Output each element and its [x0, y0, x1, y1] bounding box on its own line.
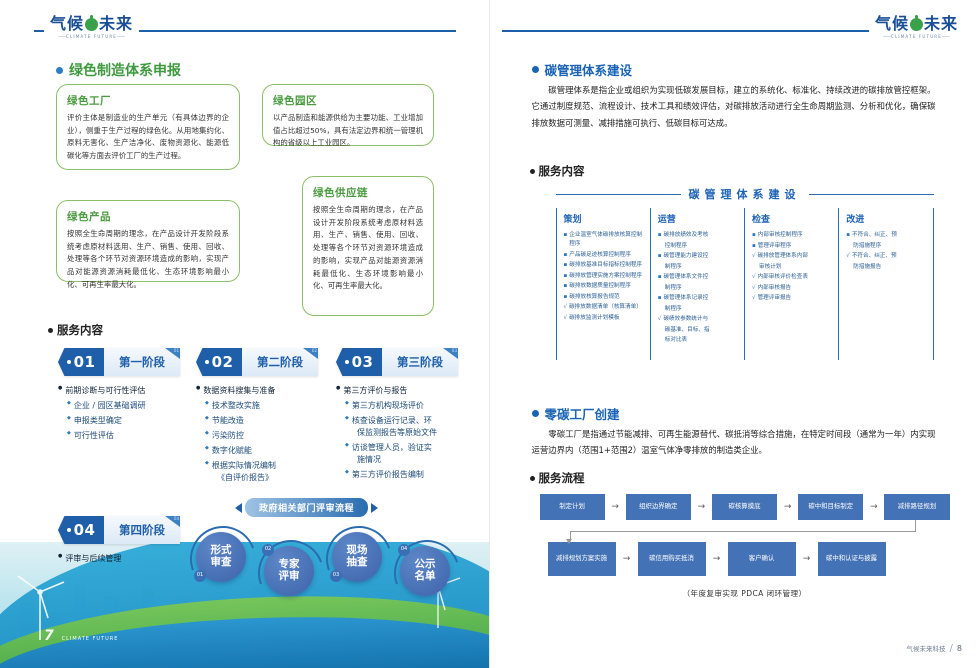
card-body: 以产品制造和能源供给为主要功能、工业增加值占比超过50%，具有法定边界和统一管理…: [273, 112, 423, 150]
list-item-continuation: 制程序: [658, 263, 739, 272]
flow-row-2: 减排规划方案实施 → 碳信用购买抵消 → 客户确认 → 碳中和认证与披露: [540, 542, 950, 576]
phase-tag: 04 第四阶段 04: [58, 516, 180, 544]
list-item: ▪碳管理体系记录控: [658, 294, 739, 303]
arrow-right-icon: →: [796, 554, 818, 564]
phase-tag: 03 第三阶段 03: [336, 348, 458, 376]
gov-step-02: 02 专家 评审: [264, 546, 314, 596]
flow-box: 制定计划: [540, 494, 605, 520]
check-mark-icon: √: [752, 273, 756, 282]
list-item: 数字化赋能: [196, 445, 328, 456]
arrow-right-icon: →: [706, 554, 728, 564]
phase-number: 03: [336, 348, 382, 376]
list-item-continuation: 防措施报告: [846, 263, 927, 272]
page-footer-brand: CLIMATE FUTURE: [62, 636, 119, 642]
gov-step-04: 04 公示 名单: [400, 546, 450, 596]
item-text: 制程序: [665, 305, 682, 314]
item-text: 产品碳足迹核算控制程序: [569, 251, 631, 260]
bullet-mark: ▪: [564, 231, 568, 240]
card-body: 按照全生命周期的理念，在产品设计开发阶段系统考虑原材料选用、生产、销售、使用、回…: [67, 228, 229, 292]
phase-03: 03 第三阶段 03 第三方评价与报告 第三方机构现场评价 核查设备运行记录、环…: [336, 348, 468, 484]
step-index: 03: [330, 570, 342, 582]
list-item: √碳绩效参数统计与: [658, 315, 739, 324]
list-item-continuation: 施情况: [336, 454, 468, 465]
card-title: 绿色产品: [67, 209, 229, 224]
phase-item-list: 前期诊断与可行性评估 企业 / 园区基础调研 申报类型确定 可行性评估: [58, 385, 188, 441]
gov-review-banner: 政府相关部门评审流程: [235, 498, 378, 517]
flow-box: 碳信用购买抵消: [638, 542, 706, 576]
arrow-right-icon: →: [863, 502, 884, 512]
table-column-check: 检查 ▪内部审核控制程序 ▪管理评审程序 √碳排放管理体系内部 审核计划 √内部…: [744, 208, 838, 360]
bullet-dot-icon: [530, 169, 535, 174]
check-mark-icon: √: [846, 252, 850, 261]
phase-01: 01 第一阶段 01 前期诊断与可行性评估 企业 / 园区基础调研 申报类型确定…: [58, 348, 188, 445]
page-footer-right: 气候未来科技 / 8: [907, 643, 962, 654]
item-text: 碳绩效参数统计与: [663, 315, 708, 324]
flow-box: 减排规划方案实施: [548, 542, 616, 576]
card-title: 绿色工厂: [67, 93, 229, 108]
list-item: 技术整改实施: [196, 400, 328, 411]
arrow-right-icon: →: [691, 502, 712, 512]
list-item: ▪碳排放基准目标指标控制程序: [564, 261, 645, 270]
bullet-mark: ▪: [658, 294, 662, 303]
section-heading-text: 零碳工厂创建: [545, 404, 620, 423]
subheading-service-content-right: 服务内容: [530, 163, 585, 179]
bullet-dot-icon: [48, 328, 53, 333]
flow-box: 减排路径规划: [884, 494, 949, 520]
phase-label: 第一阶段: [104, 348, 180, 376]
bullet-mark: ▪: [658, 252, 662, 261]
list-item: ▪产品碳足迹核算控制程序: [564, 251, 645, 260]
bullet-mark: ▪: [752, 231, 756, 240]
list-item: 第三方评价报告编制: [336, 469, 468, 480]
subheading-text: 服务内容: [57, 322, 103, 338]
carbon-mgmt-table: 碳管理体系建设 策划 ▪企业温室气体碳排放核算控制程序 ▪产品碳足迹核算控制程序…: [556, 186, 934, 366]
list-item: 节能改造: [196, 415, 328, 426]
column-header: 策划: [564, 212, 645, 225]
phase-tag: 01 第一阶段 01: [58, 348, 180, 376]
list-item: 污染防控: [196, 430, 328, 441]
item-text: 标对比表: [665, 336, 687, 345]
bullet-dot-icon: [56, 67, 63, 74]
phase-label: 第三阶段: [382, 348, 458, 376]
brand-name-part2: 未来: [99, 16, 133, 32]
bullet-mark: ▪: [564, 251, 568, 260]
check-mark-icon: √: [564, 303, 568, 312]
footer-brand: 气候未来科技: [907, 643, 946, 653]
phase-number: 04: [58, 516, 104, 544]
table-columns: 策划 ▪企业温室气体碳排放核算控制程序 ▪产品碳足迹核算控制程序 ▪碳排放基准目…: [556, 208, 934, 360]
item-text: 碳管理体系文件控: [664, 273, 709, 282]
list-item: ▪碳排放核算报告规范: [564, 293, 645, 302]
item-text: 防措施程序: [853, 242, 881, 251]
bullet-mark: ▪: [564, 261, 568, 270]
item-text: 碳排放管理体系内部: [758, 252, 808, 261]
check-mark-icon: √: [752, 252, 756, 261]
flow-box: 组织边界确定: [626, 494, 691, 520]
item-text: 内部审核控制程序: [758, 231, 803, 240]
list-item: 可行性评估: [58, 430, 188, 441]
arrow-right-icon: →: [616, 554, 638, 564]
step-index: 01: [194, 570, 206, 582]
arrow-right-icon: →: [777, 502, 798, 512]
list-item: √内部审核报告: [752, 284, 833, 293]
list-item: 核查设备运行记录、环: [336, 415, 468, 426]
list-item-continuation: 标对比表: [658, 336, 739, 345]
phase-label: 第二阶段: [242, 348, 318, 376]
list-item-continuation: 防措施程序: [846, 242, 927, 251]
phase-number: 02: [196, 348, 242, 376]
table-title: 碳管理体系建设: [689, 186, 801, 202]
brand-subtitle: CLIMATE FUTURE: [883, 34, 950, 39]
brand-logo-right: 气候 未来 CLIMATE FUTURE: [869, 16, 964, 39]
item-text: 碳排放管理实施方案控制程序: [569, 272, 642, 281]
card-title: 绿色供应链: [313, 185, 423, 200]
item-text: 管理评审报告: [758, 294, 792, 303]
flow-box: 碳核算摸底: [712, 494, 777, 520]
bullet-dot-icon: [530, 476, 535, 481]
service-process-flow: 制定计划 → 组织边界确定 → 碳核算摸底 → 碳中和目标制定 → 减排路径规划…: [540, 494, 950, 599]
list-item: 访谈管理人员，验证实: [336, 442, 468, 453]
column-header: 改进: [846, 212, 927, 225]
item-text: 碳排放基准目标指标控制程序: [569, 261, 642, 270]
phase-number: 01: [58, 348, 104, 376]
brand-logo-text: 气候 未来: [875, 16, 958, 32]
list-item: 第三方评价与报告: [336, 385, 468, 396]
list-item: 数据资料搜集与准备: [196, 385, 328, 396]
section-heading-text: 绿色制造体系申报: [69, 60, 181, 80]
card-green-supply-chain: 绿色供应链 按照全生命周期的理念，在产品设计开发阶段系统考虑原材料选用、生产、销…: [302, 176, 434, 316]
item-text: 制程序: [665, 263, 682, 272]
item-text: 碳排放数据清单（核算清单）: [569, 303, 642, 312]
item-text: 防措施报告: [853, 263, 881, 272]
check-mark-icon: √: [564, 314, 568, 323]
column-item-list: ▪内部审核控制程序 ▪管理评审程序 √碳排放管理体系内部 审核计划 √内部审核评…: [752, 231, 833, 303]
title-rule-right: [809, 194, 934, 195]
paragraph-carbon-mgmt: 碳管理体系是指企业或组织为实现低碳发展目标，建立的系统化、标准化、持续改进的碳排…: [532, 82, 936, 131]
phase-item-list: 第三方评价与报告 第三方机构现场评价 核查设备运行记录、环 保监测报告等原始文件…: [336, 385, 468, 480]
card-green-factory: 绿色工厂 评价主体是制造业的生产单元（有具体边界的企业），侧重于生产过程的绿色化…: [56, 84, 240, 170]
item-text: 制程序: [665, 284, 682, 293]
list-item: ▪碳排放绩效及考核: [658, 231, 739, 240]
flow-caption: （年度复审实现 PDCA 闭环管理）: [540, 588, 950, 599]
bullet-dot-icon: [532, 410, 539, 417]
item-text: 碳排放监测计划模板: [569, 314, 619, 323]
bullet-mark: ▪: [564, 272, 568, 281]
flow-connector-wrap: [540, 520, 950, 542]
page-number-value: 8: [957, 644, 962, 653]
bullet-dot-icon: [532, 66, 539, 73]
item-text: 审核计划: [759, 263, 781, 272]
brand-subtitle: CLIMATE FUTURE: [58, 34, 125, 39]
brand-name-part1: 气候: [50, 16, 84, 32]
list-item-continuation: 碳基准、目标、指: [658, 326, 739, 335]
flow-row-1: 制定计划 → 组织边界确定 → 碳核算摸底 → 碳中和目标制定 → 减排路径规划: [540, 494, 950, 520]
item-text: 不符合、纠正、预: [852, 231, 897, 240]
page-number-left: 7 CLIMATE FUTURE: [44, 628, 118, 644]
column-item-list: ▪企业温室气体碳排放核算控制程序 ▪产品碳足迹核算控制程序 ▪碳排放基准目标指标…: [564, 231, 645, 323]
item-text: 碳排放绩效及考核: [664, 231, 709, 240]
phase-04: 04 第四阶段 04 评审与后续管理: [58, 516, 188, 568]
right-page: 气候 未来 CLIMATE FUTURE 碳管理体系建设 碳管理体系是指企业或组…: [489, 0, 978, 668]
list-item-continuation: 制程序: [658, 305, 739, 314]
list-item-continuation: 《自评价报告》: [196, 472, 328, 483]
step-index: 04: [398, 544, 410, 556]
title-rule-left: [556, 194, 681, 195]
left-page: 气候 未来 CLIMATE FUTURE 绿色制造体系申报 绿色工厂 评价主体是…: [0, 0, 489, 668]
flow-box: 碳中和目标制定: [798, 494, 863, 520]
list-item-continuation: 制程序: [658, 284, 739, 293]
list-item: 企业 / 园区基础调研: [58, 400, 188, 411]
bullet-mark: ▪: [564, 282, 568, 291]
check-mark-icon: √: [752, 294, 756, 303]
section-heading-green-manufacturing: 绿色制造体系申报: [56, 60, 181, 80]
list-item: ▪企业温室气体碳排放核算控制程序: [564, 231, 645, 249]
paragraph-zero-carbon: 零碳工厂是指通过节能减排、可再生能源替代、碳抵消等综合措施，在特定时间段（通常为…: [532, 426, 936, 459]
list-item-continuation: 保监测报告等原始文件: [336, 427, 468, 438]
item-text: 不符合、纠正、预: [852, 252, 897, 261]
flow-box: 客户确认: [728, 542, 796, 576]
bullet-mark: ▪: [658, 231, 662, 240]
list-item: √不符合、纠正、预: [846, 252, 927, 261]
list-item: ▪碳管理体系文件控: [658, 273, 739, 282]
gov-review-banner-label: 政府相关部门评审流程: [245, 498, 368, 517]
arrow-down-icon: [566, 539, 572, 544]
list-item: 前期诊断与可行性评估: [58, 385, 188, 396]
magazine-spread: 气候 未来 CLIMATE FUTURE 绿色制造体系申报 绿色工厂 评价主体是…: [0, 0, 978, 668]
list-item: √管理评审报告: [752, 294, 833, 303]
list-item: 评审与后续管理: [58, 553, 188, 564]
bullet-mark: ▪: [846, 231, 850, 240]
phase-item-list: 评审与后续管理: [58, 553, 188, 564]
gov-step-03: 03 现场 抽查: [332, 532, 382, 582]
card-title: 绿色园区: [273, 93, 423, 108]
flow-box: 碳中和认证与披露: [818, 542, 886, 576]
phase-tag: 02 第二阶段 02: [196, 348, 318, 376]
item-text: 内部审核评价检查表: [758, 273, 808, 282]
table-title-row: 碳管理体系建设: [556, 186, 934, 202]
card-green-park: 绿色园区 以产品制造和能源供给为主要功能、工业增加值占比超过50%，具有法定边界…: [262, 84, 434, 146]
section-heading-zero-carbon: 零碳工厂创建: [532, 404, 620, 423]
item-text: 内部审核报告: [758, 284, 792, 293]
list-item: √碳排放监测计划模板: [564, 314, 645, 323]
item-text: 碳排放核算报告规范: [569, 293, 619, 302]
page-number-value: 7: [44, 628, 54, 644]
list-item: ▪管理评审程序: [752, 242, 833, 251]
connector-segment-vertical-right: [915, 520, 916, 531]
subheading-text: 服务内容: [539, 163, 585, 179]
list-item: ▪碳排放数据质量控制程序: [564, 282, 645, 291]
phase-02: 02 第二阶段 02 数据资料搜集与准备 技术整改实施 节能改造 污染防控 数字…: [196, 348, 328, 487]
item-text: 企业温室气体碳排放核算控制程序: [569, 231, 644, 249]
list-item-continuation: 审核计划: [752, 263, 833, 272]
column-header: 检查: [752, 212, 833, 225]
list-item: ▪碳排放管理实施方案控制程序: [564, 272, 645, 281]
list-item: 申报类型确定: [58, 415, 188, 426]
footer-separator: /: [950, 643, 953, 654]
phase-label: 第四阶段: [104, 516, 180, 544]
item-text: 碳管理能力建设控: [664, 252, 709, 261]
list-item: √碳排放管理体系内部: [752, 252, 833, 261]
item-text: 碳管理体系记录控: [664, 294, 709, 303]
list-item: 根据实际情况编制: [196, 460, 328, 471]
card-body: 评价主体是制造业的生产单元（有具体边界的企业），侧重于生产过程的绿色化。从用地集…: [67, 112, 229, 163]
brand-name-part2: 未来: [924, 16, 958, 32]
section-heading-text: 碳管理体系建设: [545, 60, 633, 79]
bullet-mark: ▪: [752, 242, 756, 251]
card-body: 按照全生命周期的理念，在产品设计开发阶段系统考虑原材料选用、生产、销售、使用、回…: [313, 204, 423, 293]
bullet-mark: ▪: [564, 293, 568, 302]
connector-segment-horizontal: [570, 531, 916, 532]
check-mark-icon: √: [752, 284, 756, 293]
subheading-service-content-left: 服务内容: [48, 322, 103, 338]
section-heading-carbon-mgmt: 碳管理体系建设: [532, 60, 633, 79]
item-text: 控制程序: [665, 242, 687, 251]
brand-name-part1: 气候: [875, 16, 909, 32]
globe-leaf-icon: [910, 18, 923, 31]
arrow-left-icon: [235, 503, 242, 513]
list-item: √碳排放数据清单（核算清单）: [564, 303, 645, 312]
phase-item-list: 数据资料搜集与准备 技术整改实施 节能改造 污染防控 数字化赋能 根据实际情况编…: [196, 385, 328, 483]
arrow-right-icon: [371, 503, 378, 513]
check-mark-icon: √: [658, 315, 662, 324]
item-text: 碳基准、目标、指: [665, 326, 710, 335]
table-column-planning: 策划 ▪企业温室气体碳排放核算控制程序 ▪产品碳足迹核算控制程序 ▪碳排放基准目…: [556, 208, 650, 360]
column-item-list: ▪不符合、纠正、预 防措施程序 √不符合、纠正、预 防措施报告: [846, 231, 927, 272]
item-text: 管理评审程序: [758, 242, 792, 251]
column-item-list: ▪碳排放绩效及考核 控制程序 ▪碳管理能力建设控 制程序 ▪碳管理体系文件控 制…: [658, 231, 739, 346]
step-index: 02: [262, 544, 274, 556]
bullet-mark: ▪: [658, 273, 662, 282]
table-column-operations: 运营 ▪碳排放绩效及考核 控制程序 ▪碳管理能力建设控 制程序 ▪碳管理体系文件…: [650, 208, 744, 360]
brand-logo-left: 气候 未来 CLIMATE FUTURE: [44, 16, 139, 39]
card-green-product: 绿色产品 按照全生命周期的理念，在产品设计开发阶段系统考虑原材料选用、生产、销售…: [56, 200, 240, 282]
arrow-right-icon: →: [605, 502, 626, 512]
table-column-improvement: 改进 ▪不符合、纠正、预 防措施程序 √不符合、纠正、预 防措施报告: [838, 208, 933, 360]
subheading-service-process: 服务流程: [530, 470, 585, 486]
list-item-continuation: 控制程序: [658, 242, 739, 251]
list-item: ▪不符合、纠正、预: [846, 231, 927, 240]
gov-step-01: 01 形式 审查: [196, 532, 246, 582]
subheading-text: 服务流程: [539, 470, 585, 486]
list-item: 第三方机构现场评价: [336, 400, 468, 411]
globe-leaf-icon: [85, 18, 98, 31]
list-item: √内部审核评价检查表: [752, 273, 833, 282]
item-text: 碳排放数据质量控制程序: [569, 282, 631, 291]
column-header: 运营: [658, 212, 739, 225]
brand-logo-text: 气候 未来: [50, 16, 133, 32]
list-item: ▪内部审核控制程序: [752, 231, 833, 240]
list-item: ▪碳管理能力建设控: [658, 252, 739, 261]
